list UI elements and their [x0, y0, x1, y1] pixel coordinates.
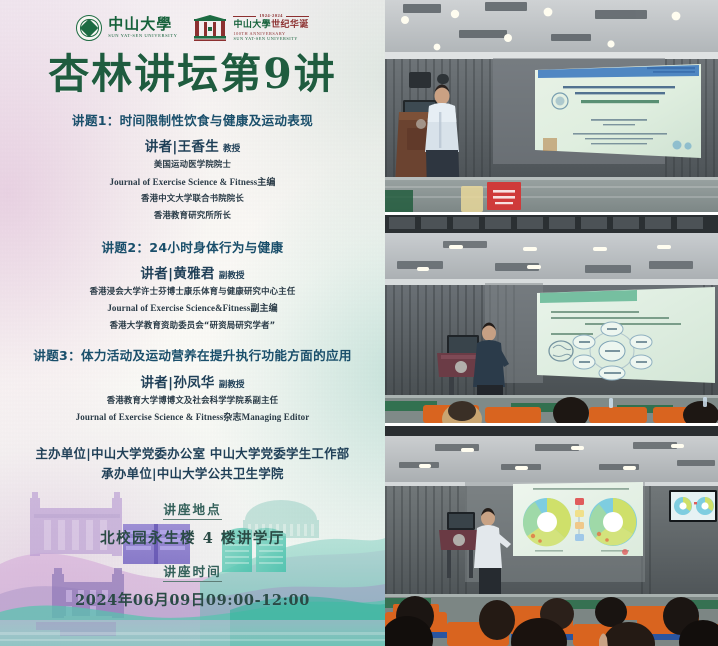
talk-2-speaker-rank: 副教授 [219, 271, 245, 281]
talk-block-2: 讲题2：24小时身体行为与健康 讲者|黄雅君副教授 香港浸会大学许士芬博士康乐体… [0, 240, 385, 333]
talk-1-speaker-rank: 教授 [223, 144, 240, 154]
sysu-logo: 中山大學 SUN YAT-SEN UNIVERSITY [76, 15, 177, 41]
talk-2-credential-1: 香港浸会大学许士芬博士康乐体育与健康研究中心主任 [0, 285, 385, 299]
anniversary-cn-sub: 世纪华诞 [271, 20, 309, 30]
anniversary-en-line2: SUN YAT-SEN UNIVERSITY [233, 37, 308, 41]
university-name-en: SUN YAT-SEN UNIVERSITY [108, 34, 177, 39]
talk-3-speaker-prefix: 讲者| [140, 375, 173, 391]
anniversary-cn: 中山大學世纪华诞 [233, 21, 308, 30]
photo-audience-with-donut-chart-slide [385, 426, 718, 646]
talk-3-speaker: 讲者|孙凤华副教授 [0, 371, 385, 391]
organizer-host: 主办单位|中山大学党委办公室 中山大学党委学生工作部 [0, 444, 385, 464]
university-seal-icon [76, 15, 102, 41]
organizer-coordinator: 承办单位|中山大学公共卫生学院 [0, 464, 385, 484]
photo-column [385, 0, 718, 646]
talk-1-speaker-name: 王香生 [178, 139, 219, 155]
event-poster: 中山大學 SUN YAT-SEN UNIVERSITY [0, 0, 385, 646]
talk-1-speaker: 讲者|王香生教授 [0, 135, 385, 155]
university-name-cn: 中山大學 [108, 17, 177, 32]
time-label-wrap: 讲座时间 [0, 561, 385, 582]
venue-value: 北校园永生楼 4 楼讲学厅 [0, 527, 385, 548]
talk-1-speaker-prefix: 讲者| [145, 139, 178, 155]
anniversary-logo: 1924-2024 中山大學世纪华诞 100TH ANNIVERSARY SUN… [193, 14, 308, 41]
talk-block-1: 讲题1：时间限制性饮食与健康及运动表现 讲者|王香生教授 美国运动医学院院士 J… [0, 113, 385, 223]
anniversary-years-row: 1924-2024 [233, 14, 308, 19]
time-value: 2024年06月09日09:00-12:00 [0, 589, 385, 610]
talk-1-heading: 讲题1：时间限制性饮食与健康及运动表现 [0, 113, 385, 128]
library-gate-icon [193, 15, 227, 42]
talk-3-credential-1: 香港教育大学博博文及社会科学学院系副主任 [0, 394, 385, 408]
anniversary-years: 1924-2024 [259, 14, 283, 19]
talk-2-heading: 讲题2：24小时身体行为与健康 [0, 240, 385, 255]
talk-2-speaker: 讲者|黄雅君副教授 [0, 262, 385, 282]
talk-1-credential-2: Journal of Exercise Science & Fitness主编 [0, 175, 385, 190]
talk-2-credential-3: 香港大学教育资助委员会“研资局研究学者” [0, 319, 385, 333]
photo-speaker-at-podium [385, 0, 718, 212]
photo-speaker-with-diagram-slide [385, 215, 718, 423]
talk-1-credential-1: 美国运动医学院院士 [0, 158, 385, 172]
talk-3-credential-2: Journal of Exercise Science & Fitness杂志M… [0, 410, 385, 425]
venue-and-time-block: 讲座地点 北校园永生楼 4 楼讲学厅 讲座时间 2024年06月09日09:00… [0, 499, 385, 610]
logo-row: 中山大學 SUN YAT-SEN UNIVERSITY [0, 0, 385, 42]
talk-3-speaker-name: 孙凤华 [173, 375, 214, 391]
poster-title: 杏林讲坛第9讲 [0, 54, 385, 95]
talk-1-credential-3: 香港中文大学联合书院院长 [0, 192, 385, 206]
talk-2-credential-2: Journal of Exercise Science&Fitness副主编 [0, 301, 385, 316]
talk-block-3: 讲题3：体力活动及运动营养在提升执行功能方面的应用 讲者|孙凤华副教授 香港教育… [0, 348, 385, 424]
venue-label-wrap: 讲座地点 [0, 499, 385, 520]
talk-1-credential-4: 香港教育研究所所长 [0, 209, 385, 223]
talk-3-heading: 讲题3：体力活动及运动营养在提升执行功能方面的应用 [0, 348, 385, 363]
anniversary-cn-main: 中山大學 [233, 20, 271, 30]
venue-label: 讲座地点 [163, 499, 221, 520]
talk-3-speaker-rank: 副教授 [219, 380, 245, 390]
poster-and-photos-composite: 中山大學 SUN YAT-SEN UNIVERSITY [0, 0, 718, 646]
talk-2-speaker-name: 黄雅君 [173, 266, 214, 282]
talk-2-speaker-prefix: 讲者| [140, 266, 173, 282]
time-label: 讲座时间 [163, 561, 221, 582]
organizers-block: 主办单位|中山大学党委办公室 中山大学党委学生工作部 承办单位|中山大学公共卫生… [0, 444, 385, 484]
